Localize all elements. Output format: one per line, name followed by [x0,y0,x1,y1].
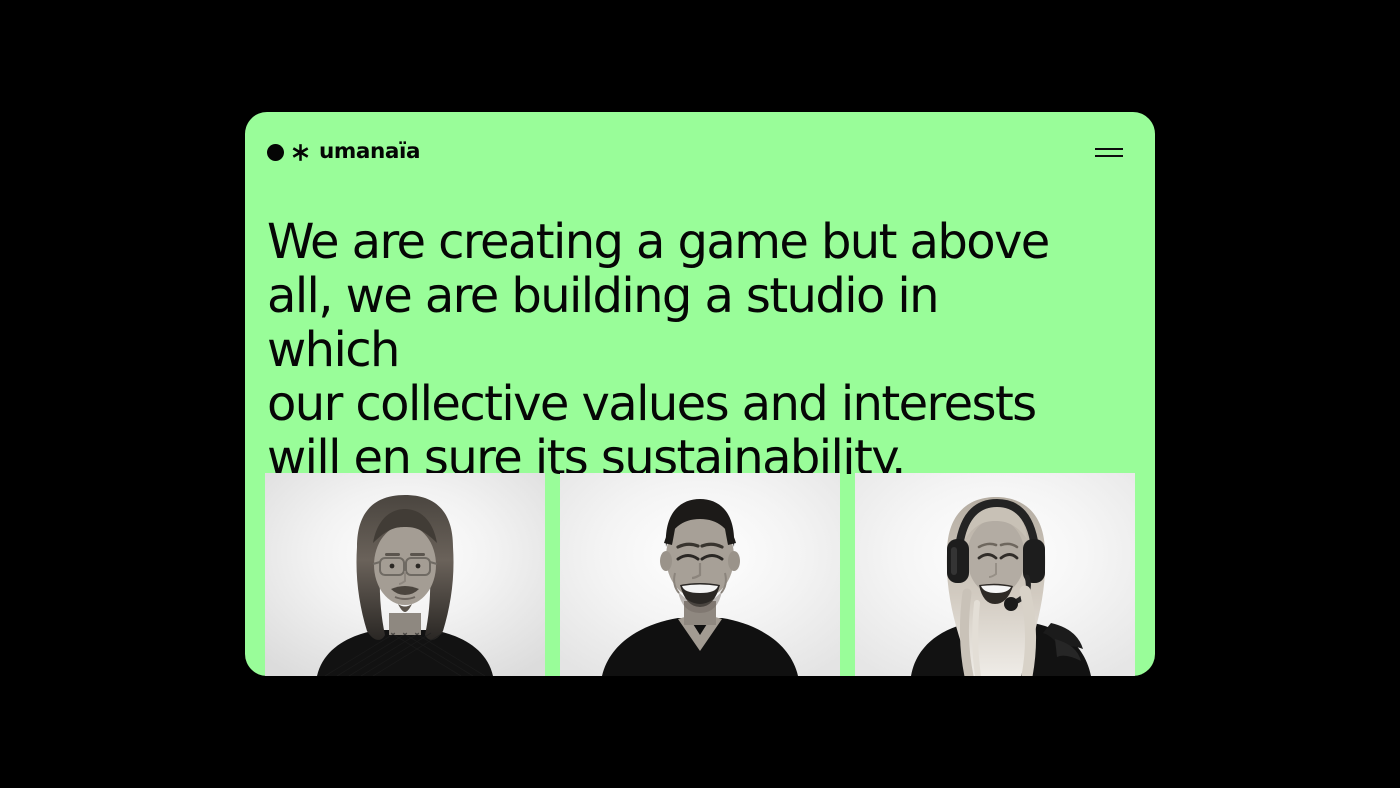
team-member-photo-3[interactable]: Black and white portrait of a smiling wo… [855,473,1135,676]
hamburger-bar-top [1095,148,1123,150]
site-header: umanaïa [245,112,1155,192]
filled-circle-icon [267,144,284,161]
brand-wordmark: umanaïa [319,141,420,163]
portrait-illustration-2 [560,473,840,676]
hamburger-menu-icon[interactable] [1095,145,1123,159]
portrait-illustration-1 [265,473,545,676]
team-member-photo-1[interactable]: Black and white portrait of a man with l… [265,473,545,676]
brand-logo[interactable]: umanaïa [267,137,420,167]
hamburger-bar-bottom [1095,155,1123,157]
team-gallery: Black and white portrait of a man with l… [265,473,1135,676]
six-point-asterisk-icon [291,143,310,162]
team-member-photo-2[interactable]: Black and white portrait of a laughing m… [560,473,840,676]
portrait-illustration-3 [855,473,1135,676]
hero-headline: We are creating a game but above all, we… [267,215,1057,485]
site-card: umanaïa We are creating a game but above… [245,112,1155,676]
